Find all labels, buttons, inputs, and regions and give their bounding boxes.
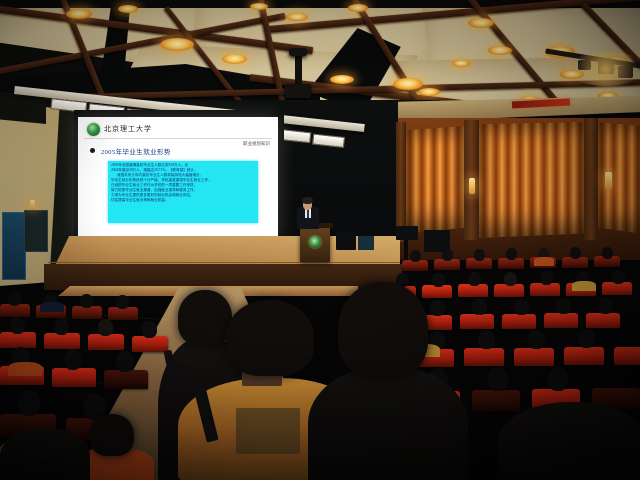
wall-notice-board bbox=[2, 212, 26, 280]
slide-body-line: 2005年全国普通高校毕业生人数达到338万人，比 bbox=[111, 163, 255, 167]
slide-body-line: 力求为毕业生提供更多更好的就业机会和就业岗位， bbox=[111, 193, 255, 197]
slide-body-line: 毕业生就业形势依然十分严峻。学校高度重视毕业生就业工作， bbox=[111, 178, 255, 182]
foreground-attendee-far-right bbox=[498, 382, 640, 480]
slide-university-name: 北京理工大学 bbox=[104, 124, 152, 134]
presenter-head bbox=[302, 197, 313, 204]
podium-crest-icon bbox=[309, 236, 321, 248]
slide-body-line: 已经把毕业生就业工作作为学校的一项重要工作来抓， bbox=[111, 183, 255, 187]
auditorium-photo: 北京理工大学 职业规划知识 2005年毕业生就业形势 2005年全国普通高校毕业… bbox=[0, 0, 640, 480]
university-seal-icon bbox=[87, 123, 100, 136]
foreground-attendee-right bbox=[308, 282, 468, 480]
slide-body-line: 2004年增加58万人，增幅达20.71%。【教育部】统计， bbox=[111, 168, 255, 172]
slide-body-textblock: 2005年全国普通高校毕业生人数达到338万人，比 2004年增加58万人，增幅… bbox=[108, 161, 258, 223]
foreground-attendee-far-left bbox=[0, 420, 90, 480]
stage-side-curtains bbox=[404, 126, 466, 234]
wall-sconce-icon bbox=[469, 178, 475, 194]
slide-corner-note: 职业规划知识 bbox=[243, 141, 270, 147]
bullet-point-icon bbox=[90, 148, 95, 153]
av-equipment bbox=[336, 232, 356, 250]
presentation-slide: 北京理工大学 职业规划知识 2005年毕业生就业形势 2005年全国普通高校毕业… bbox=[78, 117, 278, 239]
slide-body-line: 切实提高毕业生就业率和就业质量。 bbox=[111, 198, 255, 202]
slide-body-line: 努力拓宽毕业生就业渠道，加强就业指导和服务工作， bbox=[111, 188, 255, 192]
ceiling-projector-icon bbox=[295, 52, 302, 86]
slide-body-line: 我国未来几年内高校毕业生人数将保持较大幅度增长， bbox=[111, 173, 255, 177]
slide-title: 2005年毕业生就业形势 bbox=[101, 146, 171, 156]
